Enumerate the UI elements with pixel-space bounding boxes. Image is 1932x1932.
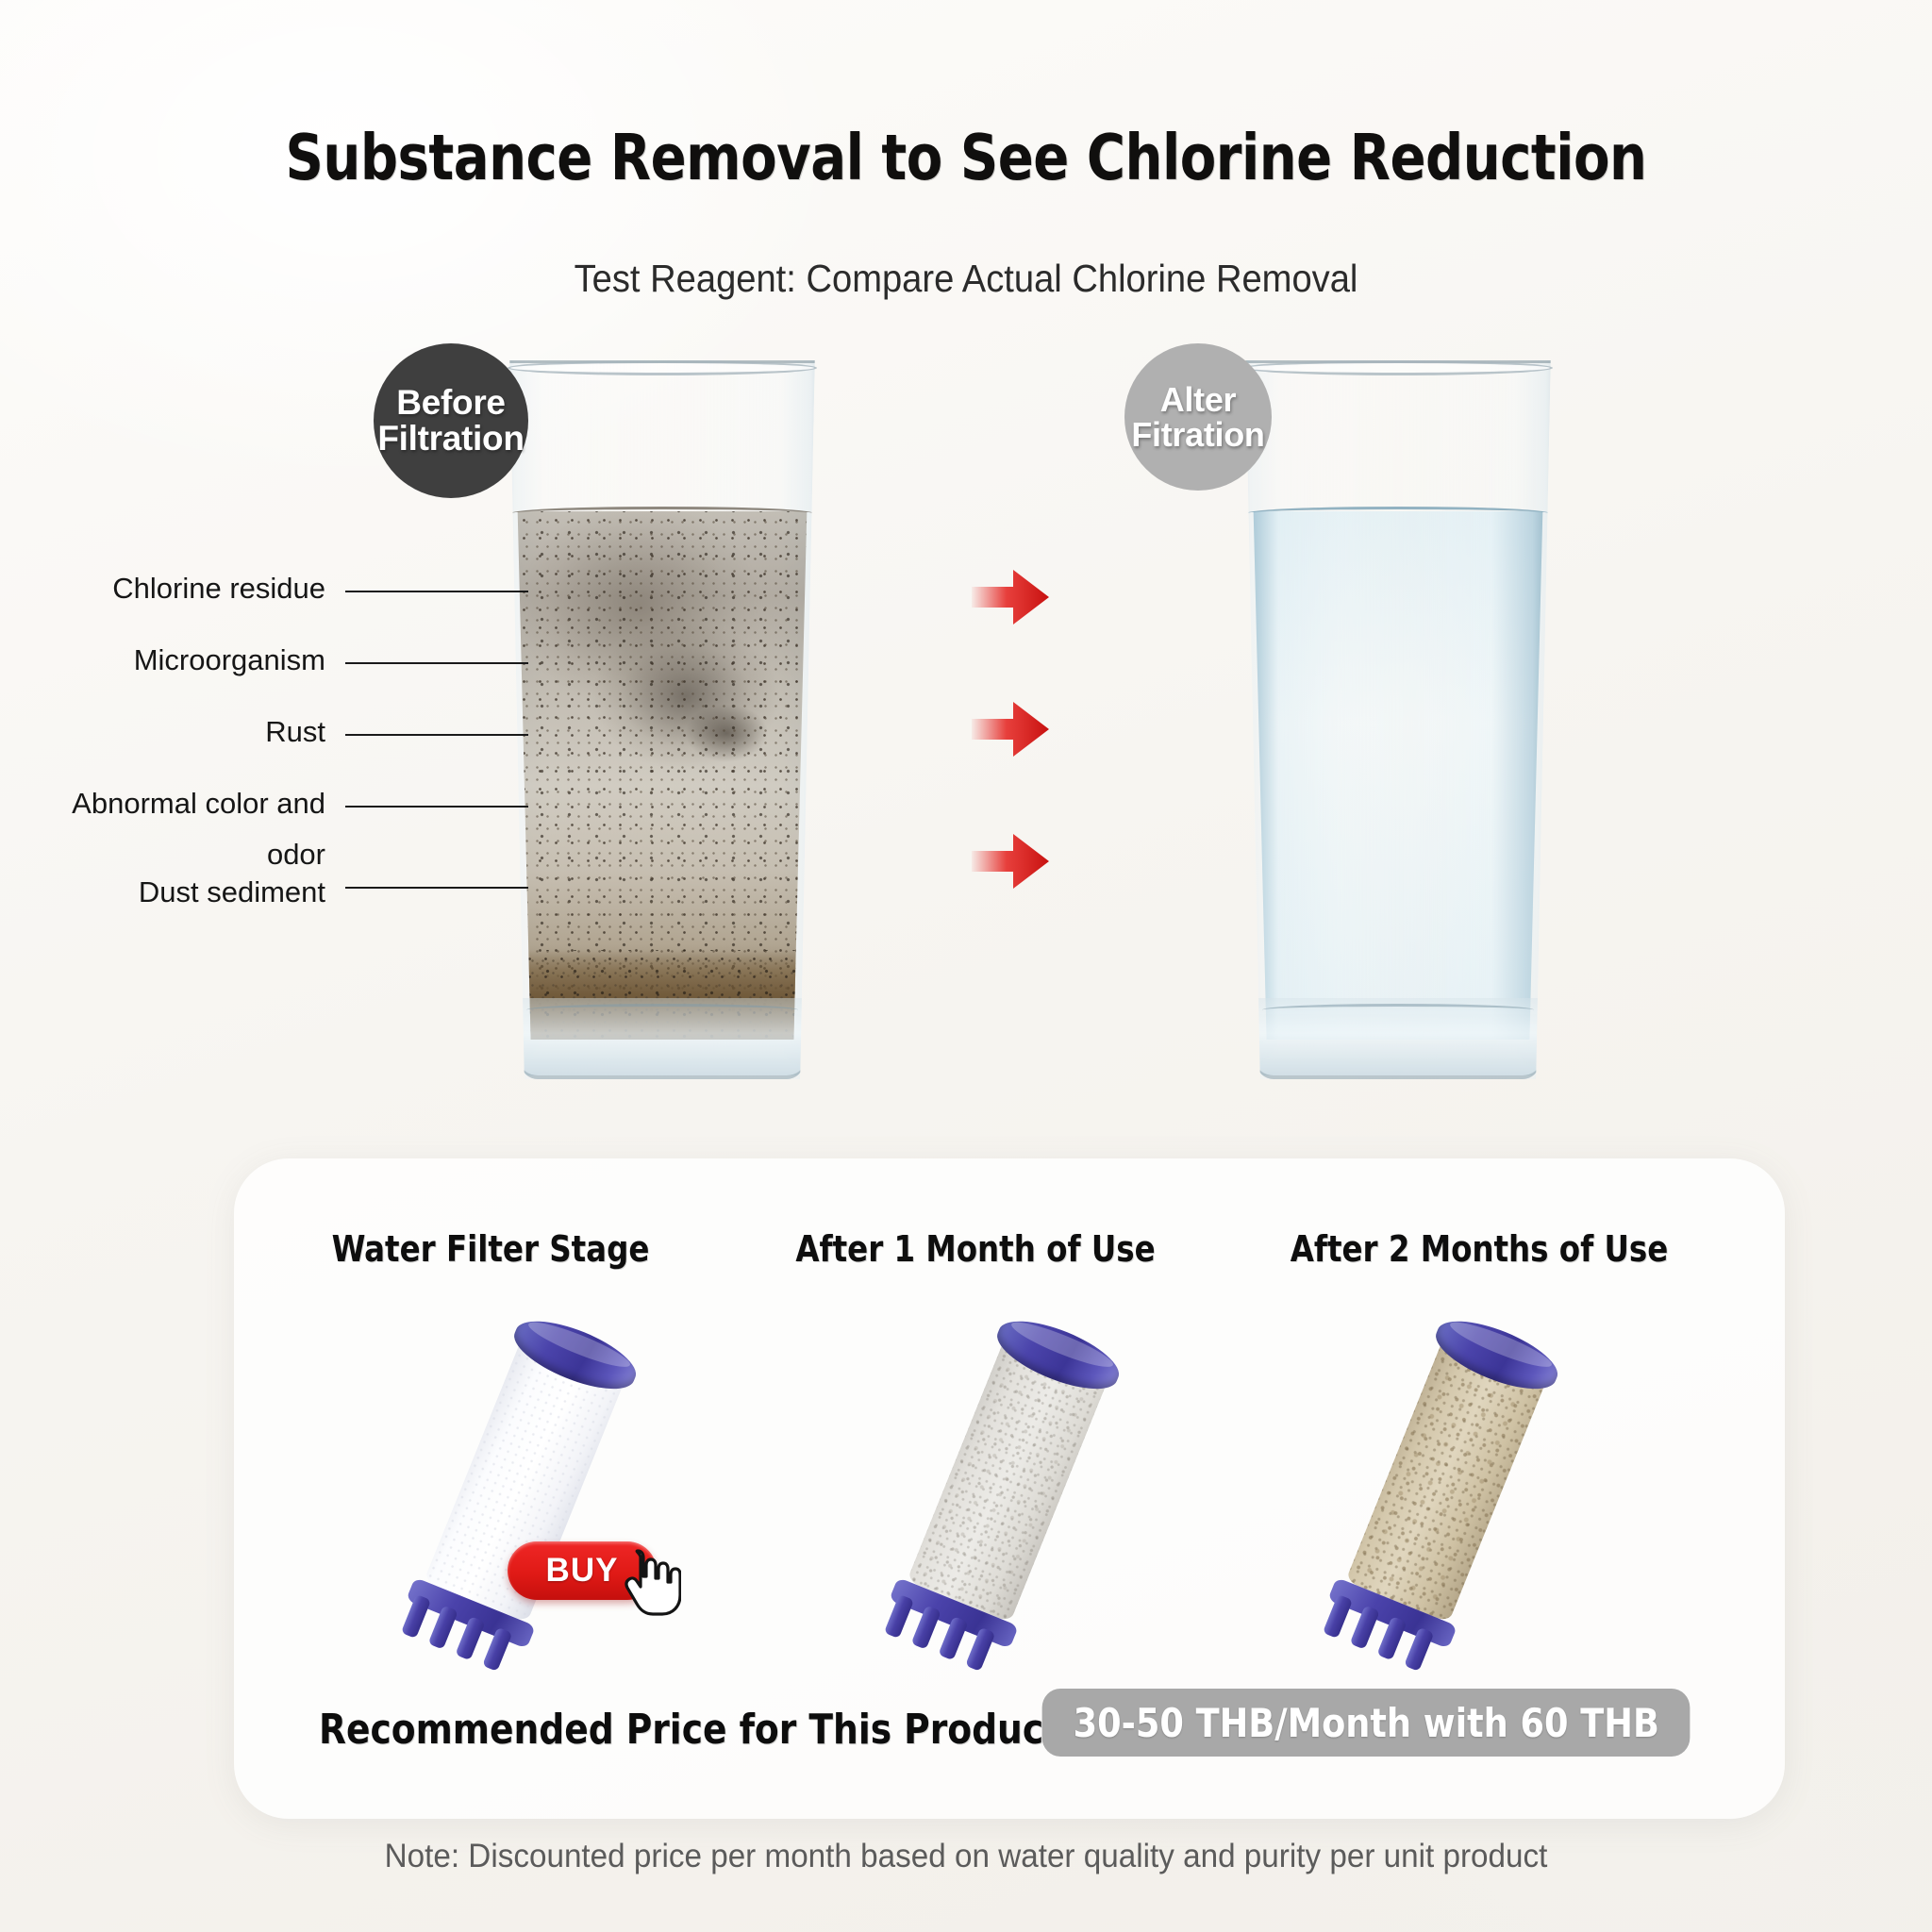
cartridge-2m-prong-2 [1350, 1605, 1380, 1649]
leader-line-abnormal-color [345, 806, 528, 808]
cartridge-new-prong-1 [401, 1594, 431, 1639]
badge-after-line2: Fitration [1131, 417, 1264, 452]
glass-after-filtration [1234, 360, 1562, 1079]
column-heading-water-filter-stage: Water Filter Stage [293, 1228, 688, 1270]
column-heading-after-1-month: After 1 Month of Use [760, 1228, 1191, 1270]
callout-label-odor: odor [38, 838, 325, 872]
clean-water [1252, 511, 1544, 1040]
leader-line-rust [345, 734, 528, 736]
glass-before-filtration [498, 360, 826, 1079]
callout-label-chlorine-residue: Chlorine residue [57, 572, 325, 606]
badge-after-filtration: Alter Fitration [1124, 343, 1272, 491]
transfer-arrow-1 [972, 566, 1049, 628]
transfer-arrow-2 [972, 698, 1049, 760]
cartridge-1m-prong-1 [884, 1594, 914, 1639]
cartridge-1m-body [897, 1315, 1117, 1645]
recommended-price-label: Recommended Price for This Product [319, 1706, 1060, 1754]
glass-after-body [1234, 360, 1562, 1079]
badge-before-line1: Before [396, 385, 505, 421]
callout-label-rust: Rust [57, 715, 325, 749]
stages-card: Water Filter Stage After 1 Month of Use … [234, 1158, 1785, 1819]
cartridge-new-prong-2 [428, 1605, 458, 1649]
cartridge-2m-prong-4 [1404, 1627, 1434, 1672]
cartridge-1m-prong-3 [938, 1616, 968, 1660]
dirty-water-line [511, 507, 813, 520]
column-heading-after-2-months: After 2 Months of Use [1246, 1228, 1712, 1270]
filter-cartridge-1-month [819, 1296, 1196, 1664]
filter-cartridge-2-months [1257, 1296, 1635, 1664]
infographic-page: Substance Removal to See Chlorine Reduct… [0, 0, 1932, 1932]
glass-before-body [498, 360, 826, 1079]
cartridge-2m-body [1336, 1315, 1556, 1645]
dirty-water [516, 511, 808, 1040]
footer-note: Note: Discounted price per month based o… [48, 1838, 1884, 1875]
leader-line-microorganism [345, 662, 528, 664]
cartridge-1m-prong-2 [911, 1605, 941, 1649]
callout-label-dust-sediment: Dust sediment [38, 875, 325, 909]
page-title: Substance Removal to See Chlorine Reduct… [68, 121, 1865, 194]
callout-label-abnormal-color: Abnormal color and [38, 787, 325, 821]
badge-before-line2: Filtration [377, 421, 524, 457]
leader-line-dust-sediment [345, 887, 528, 889]
cartridge-new-prong-4 [482, 1627, 512, 1672]
page-subtitle: Test Reagent: Compare Actual Chlorine Re… [68, 257, 1865, 301]
cartridge-1m-prong-4 [965, 1627, 995, 1672]
leader-line-chlorine-residue [345, 591, 528, 592]
glass-before-base [521, 998, 803, 1079]
hand-cursor-icon [623, 1547, 681, 1617]
cartridge-2m-prong-3 [1376, 1616, 1407, 1660]
glass-before-rim [508, 360, 816, 375]
callout-label-microorganism: Microorganism [57, 643, 325, 677]
price-pill: 30-50 THB/Month with 60 THB [1042, 1689, 1690, 1757]
badge-before-filtration: Before Filtration [374, 343, 528, 498]
glass-after-base [1257, 998, 1539, 1079]
transfer-arrow-3 [972, 830, 1049, 892]
clean-water-line [1247, 507, 1549, 520]
badge-after-line1: Alter [1160, 382, 1237, 417]
cartridge-2m-prong-1 [1323, 1594, 1353, 1639]
cartridge-new-prong-3 [455, 1616, 485, 1660]
glass-after-rim [1243, 360, 1552, 375]
